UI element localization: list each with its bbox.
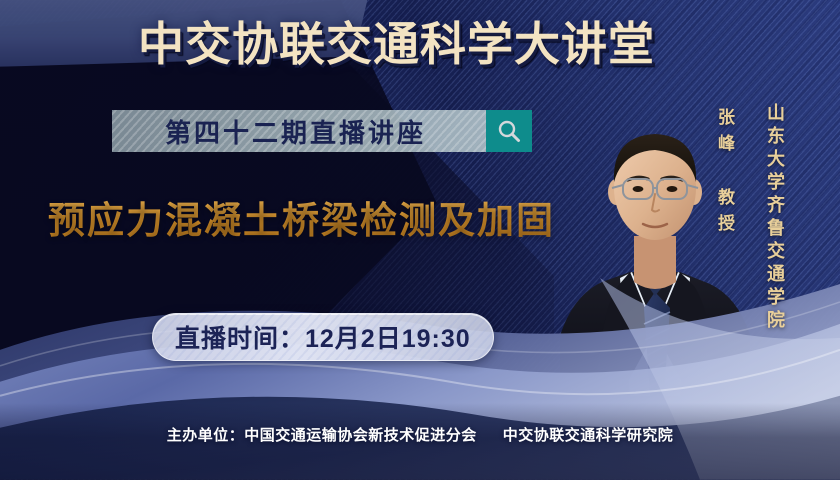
speaker-organization: 山东大学齐鲁交通学院 (762, 103, 788, 333)
search-icon[interactable] (486, 110, 532, 152)
episode-bar: 第四十二期直播讲座 (112, 110, 532, 152)
speaker-name: 张峰 教授 (712, 108, 737, 240)
live-lecture-poster: 中交协联交通科学大讲堂 第四十二期直播讲座 预应力混凝土桥梁检测及加固 直播时间… (0, 0, 840, 480)
episode-label: 第四十二期直播讲座 (165, 113, 426, 150)
episode-bar-body: 第四十二期直播讲座 (112, 110, 486, 152)
footer-org-2: 中交协联交通科学研究院 (503, 427, 674, 444)
footer-org-1: 中国交通运输协会新技术促进分会 (244, 427, 477, 444)
footer-organizers: 主办单位：中国交通运输协会新技术促进分会中交协联交通科学研究院 (0, 424, 840, 445)
footer-label: 主办单位： (167, 427, 245, 444)
live-time-text: 直播时间：12月2日19:30 (153, 319, 493, 355)
lecture-topic-title: 预应力混凝土桥梁检测及加固 (48, 190, 555, 244)
page-title: 中交协联交通科学大讲堂 (138, 17, 655, 71)
live-time-badge: 直播时间：12月2日19:30 (152, 313, 494, 361)
